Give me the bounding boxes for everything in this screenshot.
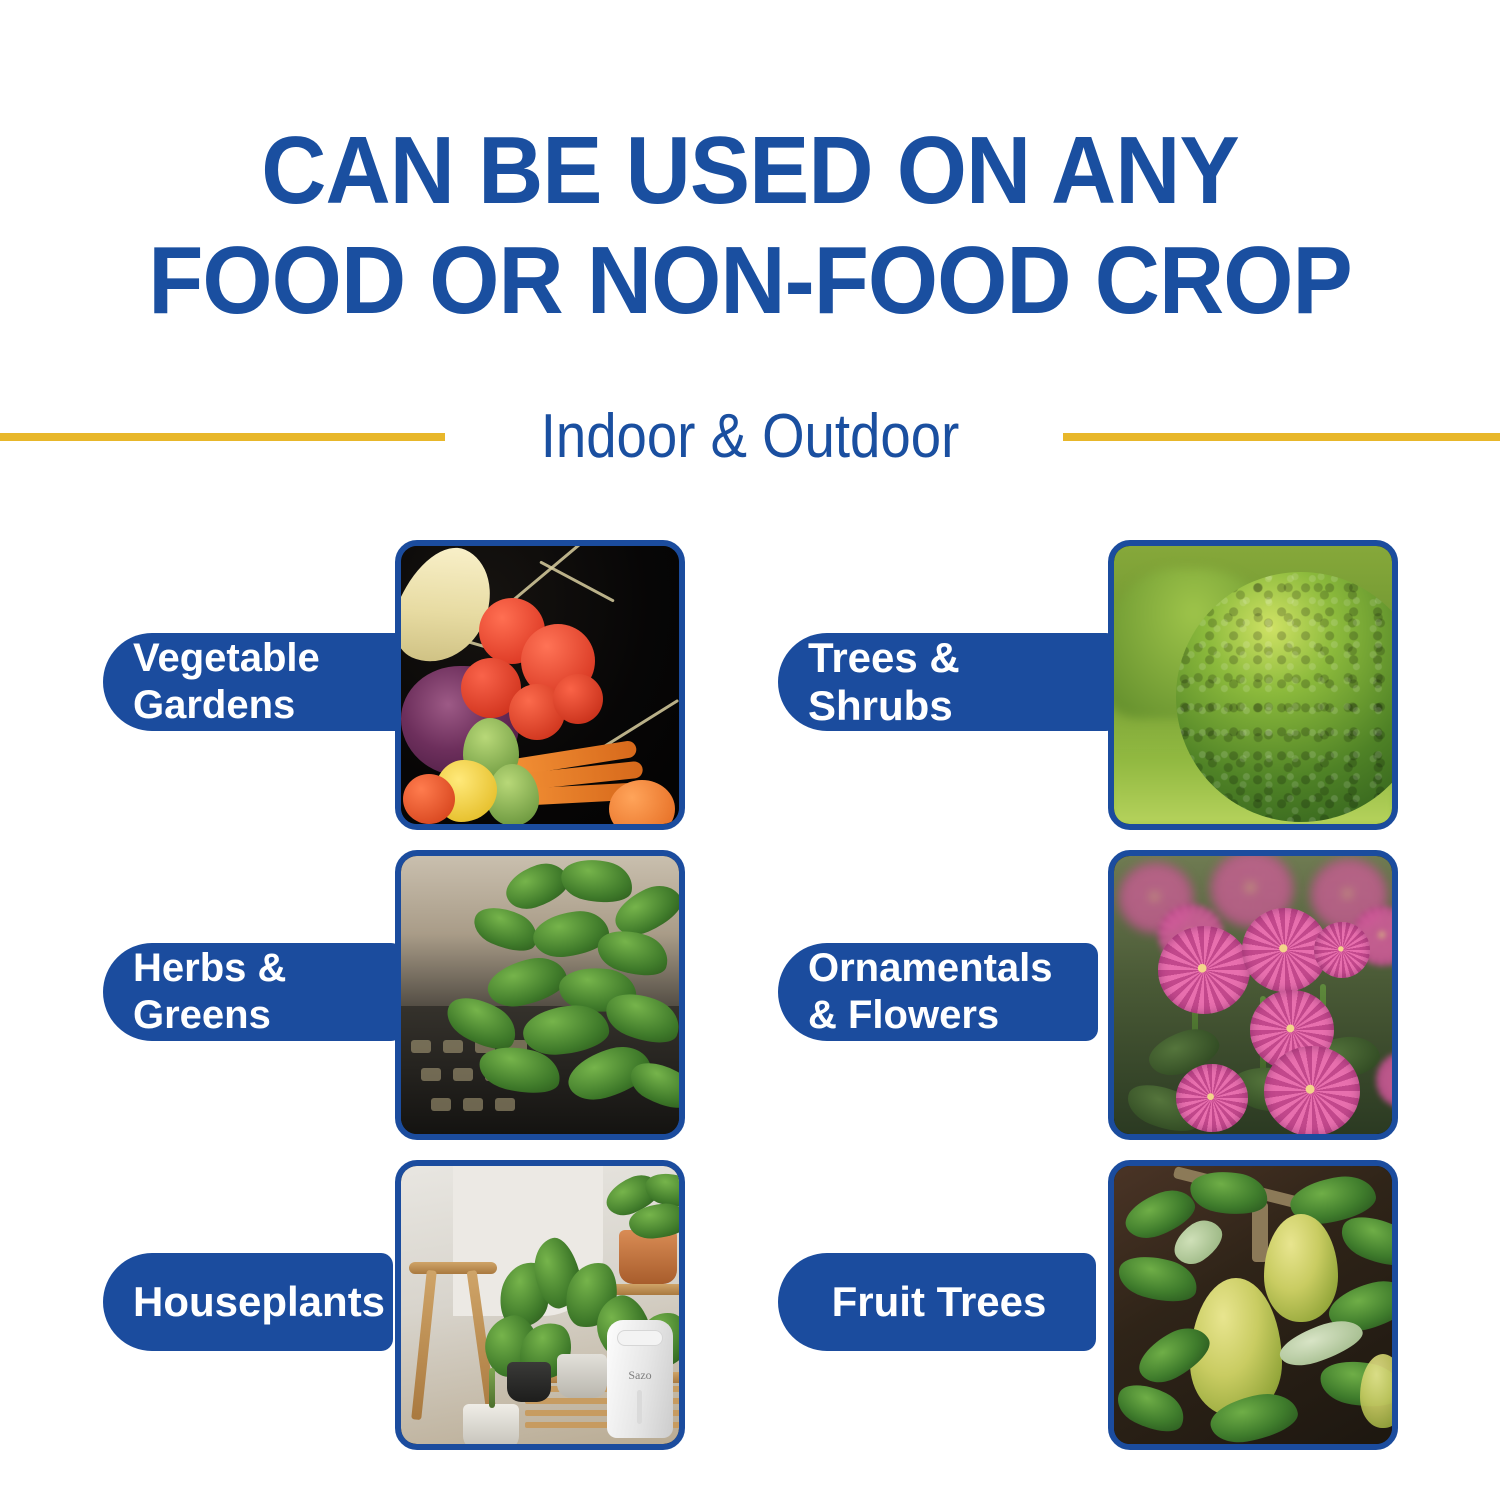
image-tile-vegetable-gardens [395,540,685,830]
infographic-page: CAN BE USED ON ANY FOOD OR NON-FOOD CROP… [0,0,1500,1500]
pill-label-trees-shrubs: Trees & Shrubs [778,634,1118,730]
photo-shrub [1114,546,1392,824]
image-tile-trees-shrubs [1108,540,1398,830]
pill-houseplants[interactable]: Houseplants [103,1253,393,1351]
pill-label-houseplants: Houseplants [103,1278,393,1326]
card-grid: Vegetable Gardens [0,0,1500,1500]
card-houseplants[interactable]: Houseplants [65,1160,685,1460]
pill-fruit-trees[interactable]: Fruit Trees [778,1253,1096,1351]
pill-vegetable-gardens[interactable]: Vegetable Gardens [103,633,433,731]
card-fruit-trees[interactable]: Fruit Trees [778,1160,1398,1460]
pill-label-vegetable-gardens: Vegetable Gardens [103,635,433,729]
image-tile-fruit-trees [1108,1160,1398,1450]
image-tile-ornamentals-flowers [1108,850,1398,1140]
pill-label-fruit-trees: Fruit Trees [778,1278,1096,1326]
humidifier: Sazo [607,1320,673,1438]
pill-trees-shrubs[interactable]: Trees & Shrubs [778,633,1118,731]
image-tile-herbs-greens [395,850,685,1140]
pill-label-herbs-greens: Herbs & Greens [103,945,403,1039]
photo-greens [401,856,679,1134]
photo-vegetables [401,546,679,824]
pill-ornamentals-flowers[interactable]: Ornamentals & Flowers [778,943,1098,1041]
card-ornamentals-flowers[interactable]: Ornamentals & Flowers [778,850,1398,1150]
image-tile-houseplants: Sazo [395,1160,685,1450]
card-vegetable-gardens[interactable]: Vegetable Gardens [65,540,685,840]
pill-label-ornamentals-flowers: Ornamentals & Flowers [778,945,1098,1039]
card-herbs-greens[interactable]: Herbs & Greens [65,850,685,1150]
photo-houseplants: Sazo [401,1166,679,1444]
photo-pears [1114,1166,1392,1444]
pill-herbs-greens[interactable]: Herbs & Greens [103,943,403,1041]
humidifier-brand-label: Sazo [607,1368,673,1383]
photo-flowers [1114,856,1392,1134]
card-trees-shrubs[interactable]: Trees & Shrubs [778,540,1398,840]
